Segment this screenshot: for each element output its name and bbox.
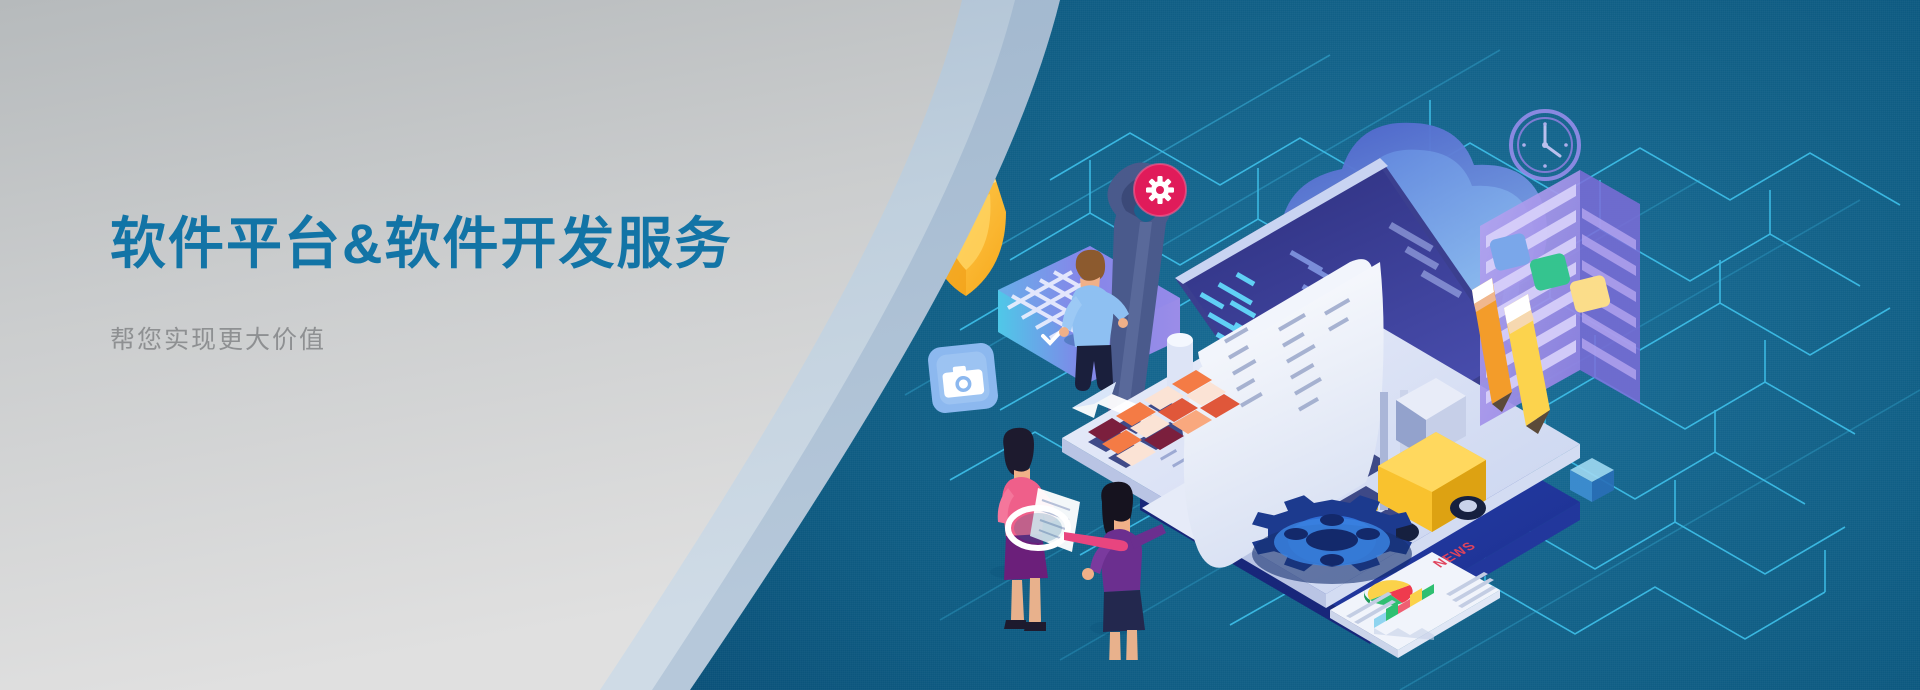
page-subtitle: 帮您实现更大价值 (110, 320, 830, 356)
hero-banner: NEWS (0, 0, 1920, 690)
page-title: 软件平台&软件开发服务 (110, 212, 830, 276)
hero-text-block: 软件平台&软件开发服务 帮您实现更大价值 (110, 212, 830, 356)
